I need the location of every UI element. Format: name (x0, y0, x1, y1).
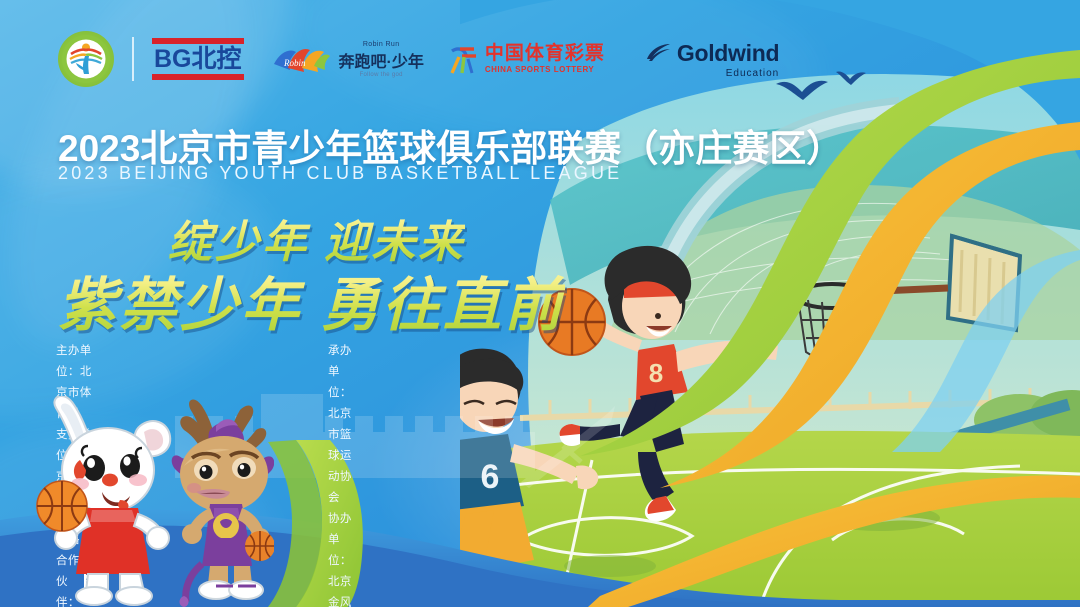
goldwind-blade-icon (645, 43, 671, 63)
lottery-cn-text: 中国体育彩票 (485, 44, 605, 63)
bg-logo-text: BG北控 (152, 44, 244, 74)
credit-label: 协办单位： (328, 513, 352, 567)
mascots-group (34, 396, 274, 607)
credits-right-column: 承办单位：北京市篮球运动协会 协办单位：北京金风体育文化有限公司 (328, 341, 352, 607)
sponsor-logo-bar: BG北控 Robin Robin Run 奔跑吧·少年 Follow the g… (58, 28, 779, 90)
china-sports-lottery-logo: 中国体育彩票 CHINA SPORTS LOTTERY (448, 43, 605, 75)
lottery-mark-icon (448, 43, 478, 75)
credit-line: 承办单位：北京市篮球运动协会 (328, 341, 352, 509)
credit-label: 承办单位： (328, 345, 352, 399)
spear-icon (511, 400, 631, 490)
dragon-basketball (245, 531, 274, 561)
poster-canvas: 8 (0, 0, 1080, 607)
rabbit-basketball (37, 481, 87, 531)
beijing-sports-emblem-icon (58, 31, 114, 87)
robin-run-cn-text: 奔跑吧·少年 (339, 48, 424, 72)
bg-beikong-logo: BG北控 (152, 38, 244, 80)
goldwind-name-text: Goldwind (677, 40, 779, 67)
goldwind-logo: Goldwind Education (645, 40, 779, 79)
robin-run-tagline-top: Robin Run (363, 41, 400, 48)
logo-divider (132, 37, 134, 81)
birds-icon (770, 66, 870, 112)
credit-value: 北京市篮球运动协会 (328, 408, 352, 504)
robin-run-mark-icon: Robin (270, 42, 332, 76)
credit-line: 协办单位：北京金风体育文化有限公司 (328, 509, 352, 607)
rabbit-mascot (37, 396, 170, 605)
lottery-en-text: CHINA SPORTS LOTTERY (485, 65, 605, 74)
goldwind-sub-text: Education (645, 68, 779, 79)
page-subtitle: 2023 BEIJING YOUTH CLUB BASKETBALL LEAGU… (58, 163, 622, 184)
watermark-text: GHTERS (271, 430, 487, 484)
slogan-line-2: 紫禁少年 勇往直前 (58, 258, 565, 342)
bg-logo-bar-bottom (152, 74, 244, 80)
credit-value: 北京金风体育文化有限公司 (328, 576, 352, 607)
robin-run-tagline-bottom: Follow the god (360, 72, 403, 78)
svg-text:8: 8 (649, 358, 663, 388)
robin-run-logo: Robin Robin Run 奔跑吧·少年 Follow the god (270, 41, 424, 78)
dragon-mascot (172, 399, 274, 607)
svg-text:Robin: Robin (283, 58, 306, 68)
